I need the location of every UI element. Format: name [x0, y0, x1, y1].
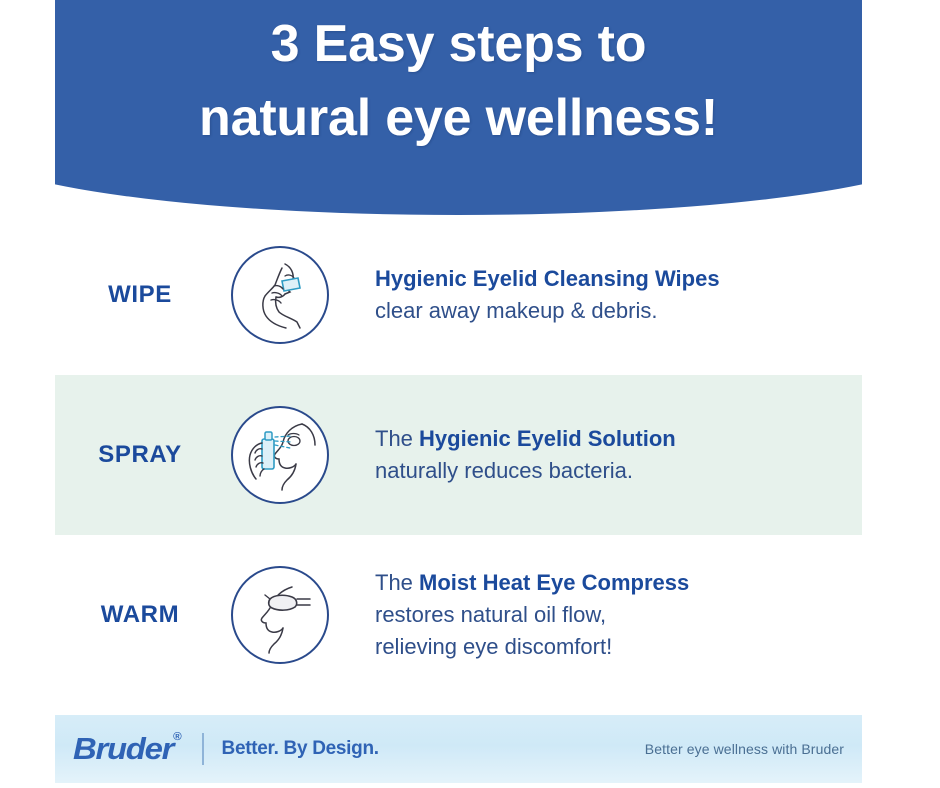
footer-bar: Bruder® Better. By Design. Better eye we… — [55, 715, 862, 783]
step-icon-wipe — [225, 246, 335, 344]
step-text-bold: Moist Heat Eye Compress — [419, 570, 689, 595]
step-text-line: restores natural oil flow, — [375, 599, 862, 631]
spray-bottle-icon — [231, 406, 329, 504]
step-text-line: clear away makeup & debris. — [375, 295, 862, 327]
bruder-logo-text: Bruder — [73, 731, 173, 766]
step-icon-spray — [225, 406, 335, 504]
step-text-wipe: Hygienic Eyelid Cleansing Wipes clear aw… — [335, 263, 862, 327]
step-text-line: Hygienic Eyelid Cleansing Wipes — [375, 263, 862, 295]
page-title-line-2: natural eye wellness! — [55, 82, 862, 156]
step-text-prefix: The — [375, 426, 419, 451]
page-title: 3 Easy steps to natural eye wellness! — [55, 8, 862, 156]
step-text-bold: Hygienic Eyelid Solution — [419, 426, 676, 451]
step-text-prefix: The — [375, 570, 419, 595]
step-text-line: naturally reduces bacteria. — [375, 455, 862, 487]
wipe-eyelid-icon — [231, 246, 329, 344]
registered-trademark-icon: ® — [173, 731, 182, 743]
step-row-warm: WARM The Moist — [55, 535, 862, 695]
step-label-warm: WARM — [55, 601, 225, 629]
step-text-spray: The Hygienic Eyelid Solution naturally r… — [335, 423, 862, 487]
step-row-spray: SPRAY — [55, 375, 862, 535]
step-text-line: The Hygienic Eyelid Solution — [375, 423, 862, 455]
step-icon-warm — [225, 566, 335, 664]
bruder-logo: Bruder® — [73, 731, 182, 767]
brand-tagline: Better. By Design. — [222, 738, 379, 760]
step-label-wipe: WIPE — [55, 281, 225, 309]
step-text-warm: The Moist Heat Eye Compress restores nat… — [335, 567, 862, 663]
footer-divider — [202, 733, 204, 765]
step-row-wipe: WIPE — [55, 215, 862, 375]
step-text-bold: Hygienic Eyelid Cleansing Wipes — [375, 266, 720, 291]
step-text-line: relieving eye discomfort! — [375, 631, 862, 663]
steps-list: WIPE — [55, 215, 862, 695]
step-text-line: The Moist Heat Eye Compress — [375, 567, 862, 599]
page-title-line-1: 3 Easy steps to — [55, 8, 862, 82]
step-label-spray: SPRAY — [55, 441, 225, 469]
footer-brand-group: Bruder® Better. By Design. — [55, 731, 379, 767]
eye-compress-mask-icon — [231, 566, 329, 664]
infographic-root: 3 Easy steps to natural eye wellness! WI… — [0, 0, 940, 788]
header-banner: 3 Easy steps to natural eye wellness! — [55, 0, 862, 215]
footer-right-text: Better eye wellness with Bruder — [645, 741, 862, 757]
